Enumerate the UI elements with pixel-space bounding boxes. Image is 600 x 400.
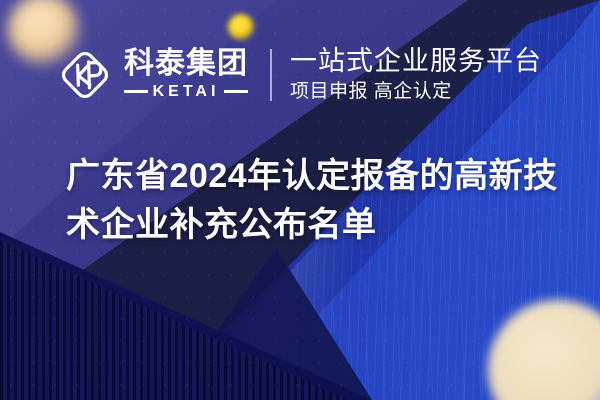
brand-wordmark: 科泰集团 KETAI — [124, 49, 248, 101]
header-divider — [270, 49, 272, 101]
tagline-sub: 项目申报 高企认定 — [290, 80, 542, 105]
wordmark-rule-left — [124, 90, 148, 93]
brand-name-en-row: KETAI — [124, 83, 248, 101]
page-title: 广东省2024年认定报备的高新技术企业补充公布名单 — [66, 152, 576, 251]
wordmark-rule-right — [224, 90, 248, 93]
brand-name-en: KETAI — [153, 83, 220, 101]
brand-name-cn: 科泰集团 — [124, 49, 248, 80]
yellow-glow-orb-top-right — [228, 14, 254, 40]
promo-banner: 科泰集团 KETAI 一站式企业服务平台 项目申报 高企认定 广东省2024年认… — [0, 0, 600, 400]
tagline-main: 一站式企业服务平台 — [290, 46, 542, 76]
banner-header: 科泰集团 KETAI 一站式企业服务平台 项目申报 高企认定 — [58, 38, 542, 112]
ketai-diamond-logo-icon — [58, 48, 112, 102]
tagline-block: 一站式企业服务平台 项目申报 高企认定 — [290, 46, 542, 105]
